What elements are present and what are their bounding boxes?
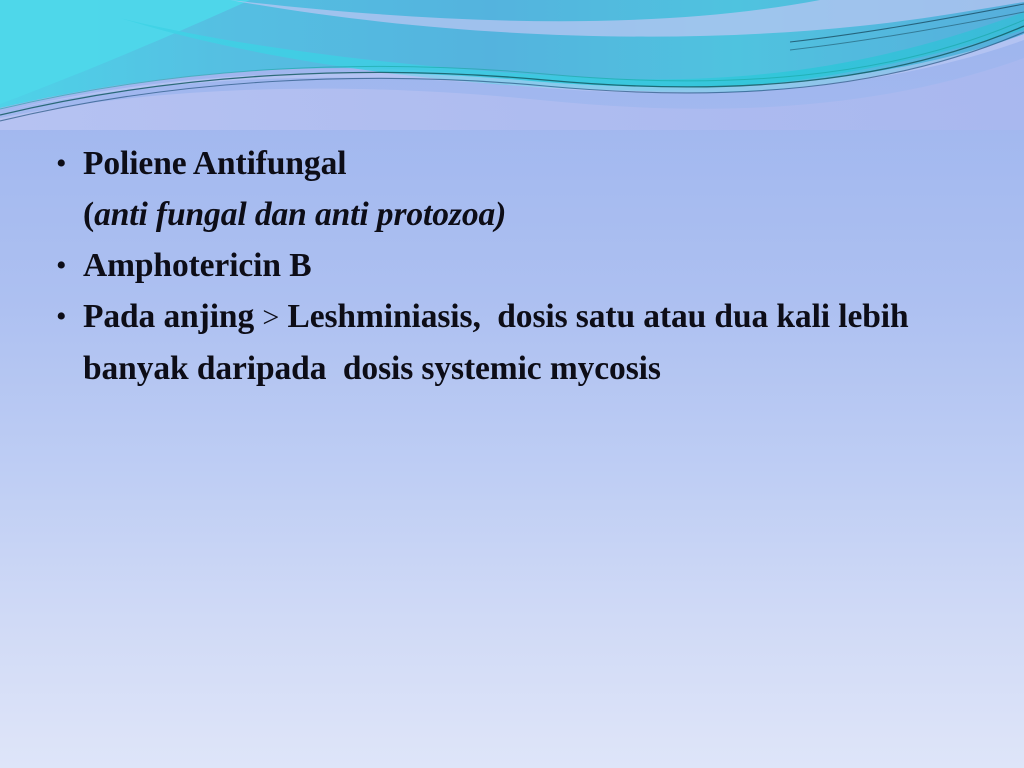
list-item-text: (anti fungal dan anti protozoa) — [83, 189, 978, 240]
paren-open: ( — [83, 196, 94, 233]
greater-than-symbol: > — [262, 301, 279, 334]
bullet-icon: • — [48, 291, 83, 342]
decorative-wave-header — [0, 0, 1024, 130]
bullet-icon-placeholder — [48, 189, 83, 240]
list-item-text-part1: Pada anjing — [83, 298, 262, 335]
wave-lavender-thin — [0, 34, 1024, 112]
list-item-text: Amphotericin B — [83, 240, 978, 291]
presentation-slide: • Poliene Antifungal (anti fungal dan an… — [0, 0, 1024, 768]
wave-lavender-ribbon — [0, 58, 1024, 130]
list-item: • Poliene Antifungal — [48, 138, 978, 189]
wave-strand-line-2 — [0, 32, 1024, 121]
wave-lavender-upper — [230, 0, 1024, 37]
list-item: (anti fungal dan anti protozoa) — [48, 189, 978, 240]
bullet-icon: • — [48, 138, 83, 189]
wave-strand-line-5 — [790, 12, 1024, 50]
wave-strand-line-4 — [790, 4, 1024, 42]
list-item-text-italic: anti fungal dan anti protozoa) — [94, 196, 506, 233]
list-item: • Pada anjing > Leshminiasis, dosis satu… — [48, 291, 978, 394]
wave-turquoise-ribbon — [0, 0, 250, 104]
wave-strand-line-3 — [0, 20, 1024, 109]
list-item: • Amphotericin B — [48, 240, 978, 291]
slide-body-content: • Poliene Antifungal (anti fungal dan an… — [48, 138, 978, 394]
wave-turquoise-sweep — [120, 12, 1024, 91]
bullet-icon: • — [48, 240, 83, 291]
wave-cyan-base — [0, 0, 1024, 108]
list-item-text: Pada anjing > Leshminiasis, dosis satu a… — [83, 291, 978, 394]
list-item-text: Poliene Antifungal — [83, 138, 978, 189]
wave-strand-line-1 — [0, 26, 1024, 115]
